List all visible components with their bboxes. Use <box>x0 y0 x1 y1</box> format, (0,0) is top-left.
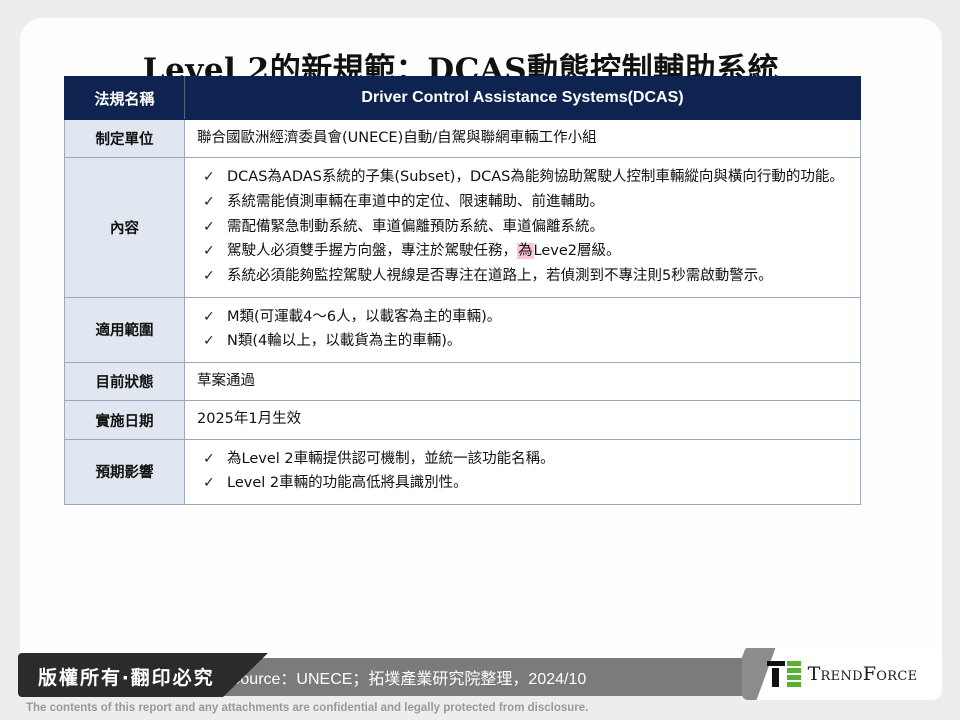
check-list: ✓DCAS為ADAS系統的子集(Subset)，DCAS為能夠協助駕駛人控制車輛… <box>197 166 852 288</box>
table-header-value: Driver Control Assistance Systems(DCAS) <box>185 77 861 120</box>
row-label: 內容 <box>65 158 185 297</box>
list-item: ✓N類(4輪以上，以載貨為主的車輛)。 <box>197 330 852 354</box>
list-item: ✓需配備緊急制動系統、車道偏離預防系統、車道偏離系統。 <box>197 216 852 240</box>
check-icon: ✓ <box>203 330 215 353</box>
table-row: 適用範圍✓M類(可運載4～6人，以載客為主的車輛)。✓N類(4輪以上，以載貨為主… <box>65 297 861 362</box>
list-item-text: N類(4輪以上，以載貨為主的車輛)。 <box>227 333 461 349</box>
row-value-text: 草案通過 <box>197 373 255 389</box>
list-item: ✓Level 2車輛的功能高低將具識別性。 <box>197 472 852 496</box>
check-icon: ✓ <box>203 472 215 495</box>
list-item-text: 需配備緊急制動系統、車道偏離預防系統、車道偏離系統。 <box>227 219 604 235</box>
row-label: 制定單位 <box>65 120 185 158</box>
list-item-text: 為Level 2車輛提供認可機制，並統一該功能名稱。 <box>227 451 555 467</box>
row-value-text: 2025年1月生效 <box>197 411 301 427</box>
list-item: ✓系統必須能夠監控駕駛人視線是否專注在道路上，若偵測到不專注則5秒需啟動警示。 <box>197 265 852 289</box>
row-label: 實施日期 <box>65 401 185 439</box>
row-value: ✓DCAS為ADAS系統的子集(Subset)，DCAS為能夠協助駕駛人控制車輛… <box>185 158 861 297</box>
list-item: ✓為Level 2車輛提供認可機制，並統一該功能名稱。 <box>197 448 852 472</box>
list-item-text: Level 2車輛的功能高低將具識別性。 <box>227 475 468 491</box>
list-item-text: DCAS為ADAS系統的子集(Subset)，DCAS為能夠協助駕駛人控制車輛縱… <box>227 169 844 185</box>
check-list: ✓為Level 2車輛提供認可機制，並統一該功能名稱。✓Level 2車輛的功能… <box>197 448 852 496</box>
check-icon: ✓ <box>203 240 215 263</box>
list-item: ✓M類(可運載4～6人，以載客為主的車輛)。 <box>197 306 852 330</box>
check-icon: ✓ <box>203 216 215 239</box>
highlighted-text: 為 <box>517 243 534 259</box>
table-row: 目前狀態草案通過 <box>65 362 861 400</box>
brand-wordmark: TrendForce <box>808 663 918 685</box>
table-row: 實施日期2025年1月生效 <box>65 401 861 439</box>
slide-root: 拓墣 TOPOLOGY RESEARCH INSTITUTE Level 2的新… <box>0 0 960 720</box>
table-body: 法規名稱 Driver Control Assistance Systems(D… <box>65 77 861 505</box>
row-value: ✓M類(可運載4～6人，以載客為主的車輛)。✓N類(4輪以上，以載貨為主的車輛)… <box>185 297 861 362</box>
list-item-text: 系統需能偵測車輛在車道中的定位、限速輔助、前進輔助。 <box>227 194 604 210</box>
check-icon: ✓ <box>203 191 215 214</box>
table-row: 制定單位聯合國歐洲經濟委員會(UNECE)自動/自駕與聯網車輛工作小組 <box>65 120 861 158</box>
table-header-label: 法規名稱 <box>65 77 185 120</box>
list-item: ✓DCAS為ADAS系統的子集(Subset)，DCAS為能夠協助駕駛人控制車輛… <box>197 166 852 190</box>
check-icon: ✓ <box>203 166 215 189</box>
check-icon: ✓ <box>203 265 215 288</box>
check-list: ✓M類(可運載4～6人，以載客為主的車輛)。✓N類(4輪以上，以載貨為主的車輛)… <box>197 306 852 354</box>
brand-logo: TrendForce <box>742 648 942 700</box>
table-row: 內容✓DCAS為ADAS系統的子集(Subset)，DCAS為能夠協助駕駛人控制… <box>65 158 861 297</box>
row-value: 草案通過 <box>185 362 861 400</box>
list-item-text: 駕駛人必須雙手握方向盤，專注於駕駛任務， <box>227 243 517 259</box>
row-value-text: 聯合國歐洲經濟委員會(UNECE)自動/自駕與聯網車輛工作小組 <box>197 130 597 146</box>
row-value: ✓為Level 2車輛提供認可機制，並統一該功能名稱。✓Level 2車輛的功能… <box>185 439 861 504</box>
disclaimer-text: The contents of this report and any atta… <box>26 702 588 714</box>
trendforce-mark-icon <box>767 661 801 687</box>
table-header-row: 法規名稱 Driver Control Assistance Systems(D… <box>65 77 861 120</box>
row-label: 目前狀態 <box>65 362 185 400</box>
row-value: 2025年1月生效 <box>185 401 861 439</box>
list-item-text: 系統必須能夠監控駕駛人視線是否專注在道路上，若偵測到不專注則5秒需啟動警示。 <box>227 268 773 284</box>
regulation-table: 法規名稱 Driver Control Assistance Systems(D… <box>64 76 861 505</box>
list-item: ✓駕駛人必須雙手握方向盤，專注於駕駛任務，為Leve2層級。 <box>197 240 852 264</box>
row-label: 預期影響 <box>65 439 185 504</box>
list-item-text-tail: Leve2層級。 <box>534 243 621 259</box>
row-value: 聯合國歐洲經濟委員會(UNECE)自動/自駕與聯網車輛工作小組 <box>185 120 861 158</box>
table-row: 預期影響✓為Level 2車輛提供認可機制，並統一該功能名稱。✓Level 2車… <box>65 439 861 504</box>
check-icon: ✓ <box>203 448 215 471</box>
list-item: ✓系統需能偵測車輛在車道中的定位、限速輔助、前進輔助。 <box>197 191 852 215</box>
copyright-label: 版權所有‧翻印必究 <box>38 663 215 690</box>
list-item-text: M類(可運載4～6人，以載客為主的車輛)。 <box>227 309 501 325</box>
check-icon: ✓ <box>203 306 215 329</box>
row-label: 適用範圍 <box>65 297 185 362</box>
